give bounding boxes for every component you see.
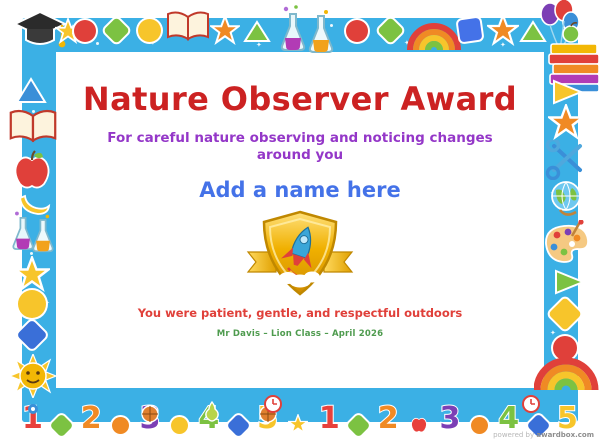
- orange-flask-icon: [30, 212, 56, 254]
- number-sticker: 4: [498, 404, 519, 434]
- certificate-subtitle: For careful nature observing and noticin…: [105, 130, 495, 164]
- page-title: Nature Observer Award: [56, 52, 544, 118]
- globe-icon: [546, 178, 590, 222]
- yellow-circle-icon: [171, 417, 188, 434]
- green-diamond-icon: [50, 413, 74, 437]
- badge-container: [56, 208, 544, 300]
- green-triangle-icon: [552, 268, 586, 296]
- gear-icon: [24, 400, 42, 418]
- purple-flask-icon: [278, 4, 308, 52]
- rainbow-icon: [406, 6, 462, 52]
- footer-prefix: powered by: [493, 431, 536, 439]
- praise-text: You were patient, gentle, and respectful…: [56, 306, 544, 320]
- certificate-content: Nature Observer Award For careful nature…: [56, 52, 544, 388]
- number-sticker: 3: [439, 404, 460, 434]
- yellow-circle-icon: [138, 19, 161, 42]
- yellow-star-icon: [14, 256, 50, 292]
- clock-icon: [262, 392, 284, 414]
- gold-shield-rocket-badge: [244, 208, 356, 300]
- orange-star-icon: [487, 14, 519, 46]
- orange-star-icon: [548, 104, 584, 140]
- signature-line: Mr Davis – Lion Class – April 2026: [56, 329, 544, 339]
- number-sticker: 1: [319, 404, 340, 434]
- recipient-name-field[interactable]: Add a name here: [56, 178, 544, 202]
- green-triangle-icon: [243, 20, 271, 44]
- number-sticker: 5: [557, 404, 578, 434]
- yellow-circle-icon: [18, 290, 46, 318]
- yellow-triangle-icon: [550, 78, 584, 106]
- red-apple-icon: [10, 148, 54, 192]
- blue-triangle-icon: [14, 76, 48, 106]
- basketball-icon: [140, 404, 160, 424]
- pear-icon: [200, 398, 224, 422]
- clock-icon: [520, 392, 542, 414]
- red-circle-icon: [346, 20, 368, 42]
- certificate: ✦ ✦ ✦ ✦ ✦ ✦ ✦ ✦ ✦: [0, 0, 600, 440]
- green-diamond-icon: [347, 413, 371, 437]
- orange-star-icon: [210, 15, 240, 45]
- border-bottom-numbers: 1 2 3 4 5 1 2 3 4 5: [16, 378, 584, 434]
- sparkle-dot-icon: [96, 42, 99, 45]
- blue-diamond-icon: [226, 413, 250, 437]
- red-circle-icon: [74, 20, 96, 42]
- red-apple-icon: [409, 414, 429, 434]
- open-book-icon: [166, 8, 210, 44]
- orange-circle-icon: [112, 417, 129, 434]
- sparkle-star-icon: ✦: [550, 330, 556, 337]
- open-book-icon: [8, 106, 58, 146]
- footer-brand: awardbox.com: [536, 431, 594, 439]
- paint-palette-icon: [542, 220, 594, 268]
- scissors-icon: [544, 140, 590, 180]
- number-sticker: 2: [378, 404, 399, 434]
- yellow-star-icon: [288, 414, 308, 434]
- number-sticker: 2: [81, 404, 102, 434]
- orange-flask-icon: [306, 8, 336, 54]
- footer-attribution: powered by awardbox.com: [493, 431, 594, 439]
- orange-circle-icon: [471, 417, 488, 434]
- blue-square-icon: [458, 18, 483, 43]
